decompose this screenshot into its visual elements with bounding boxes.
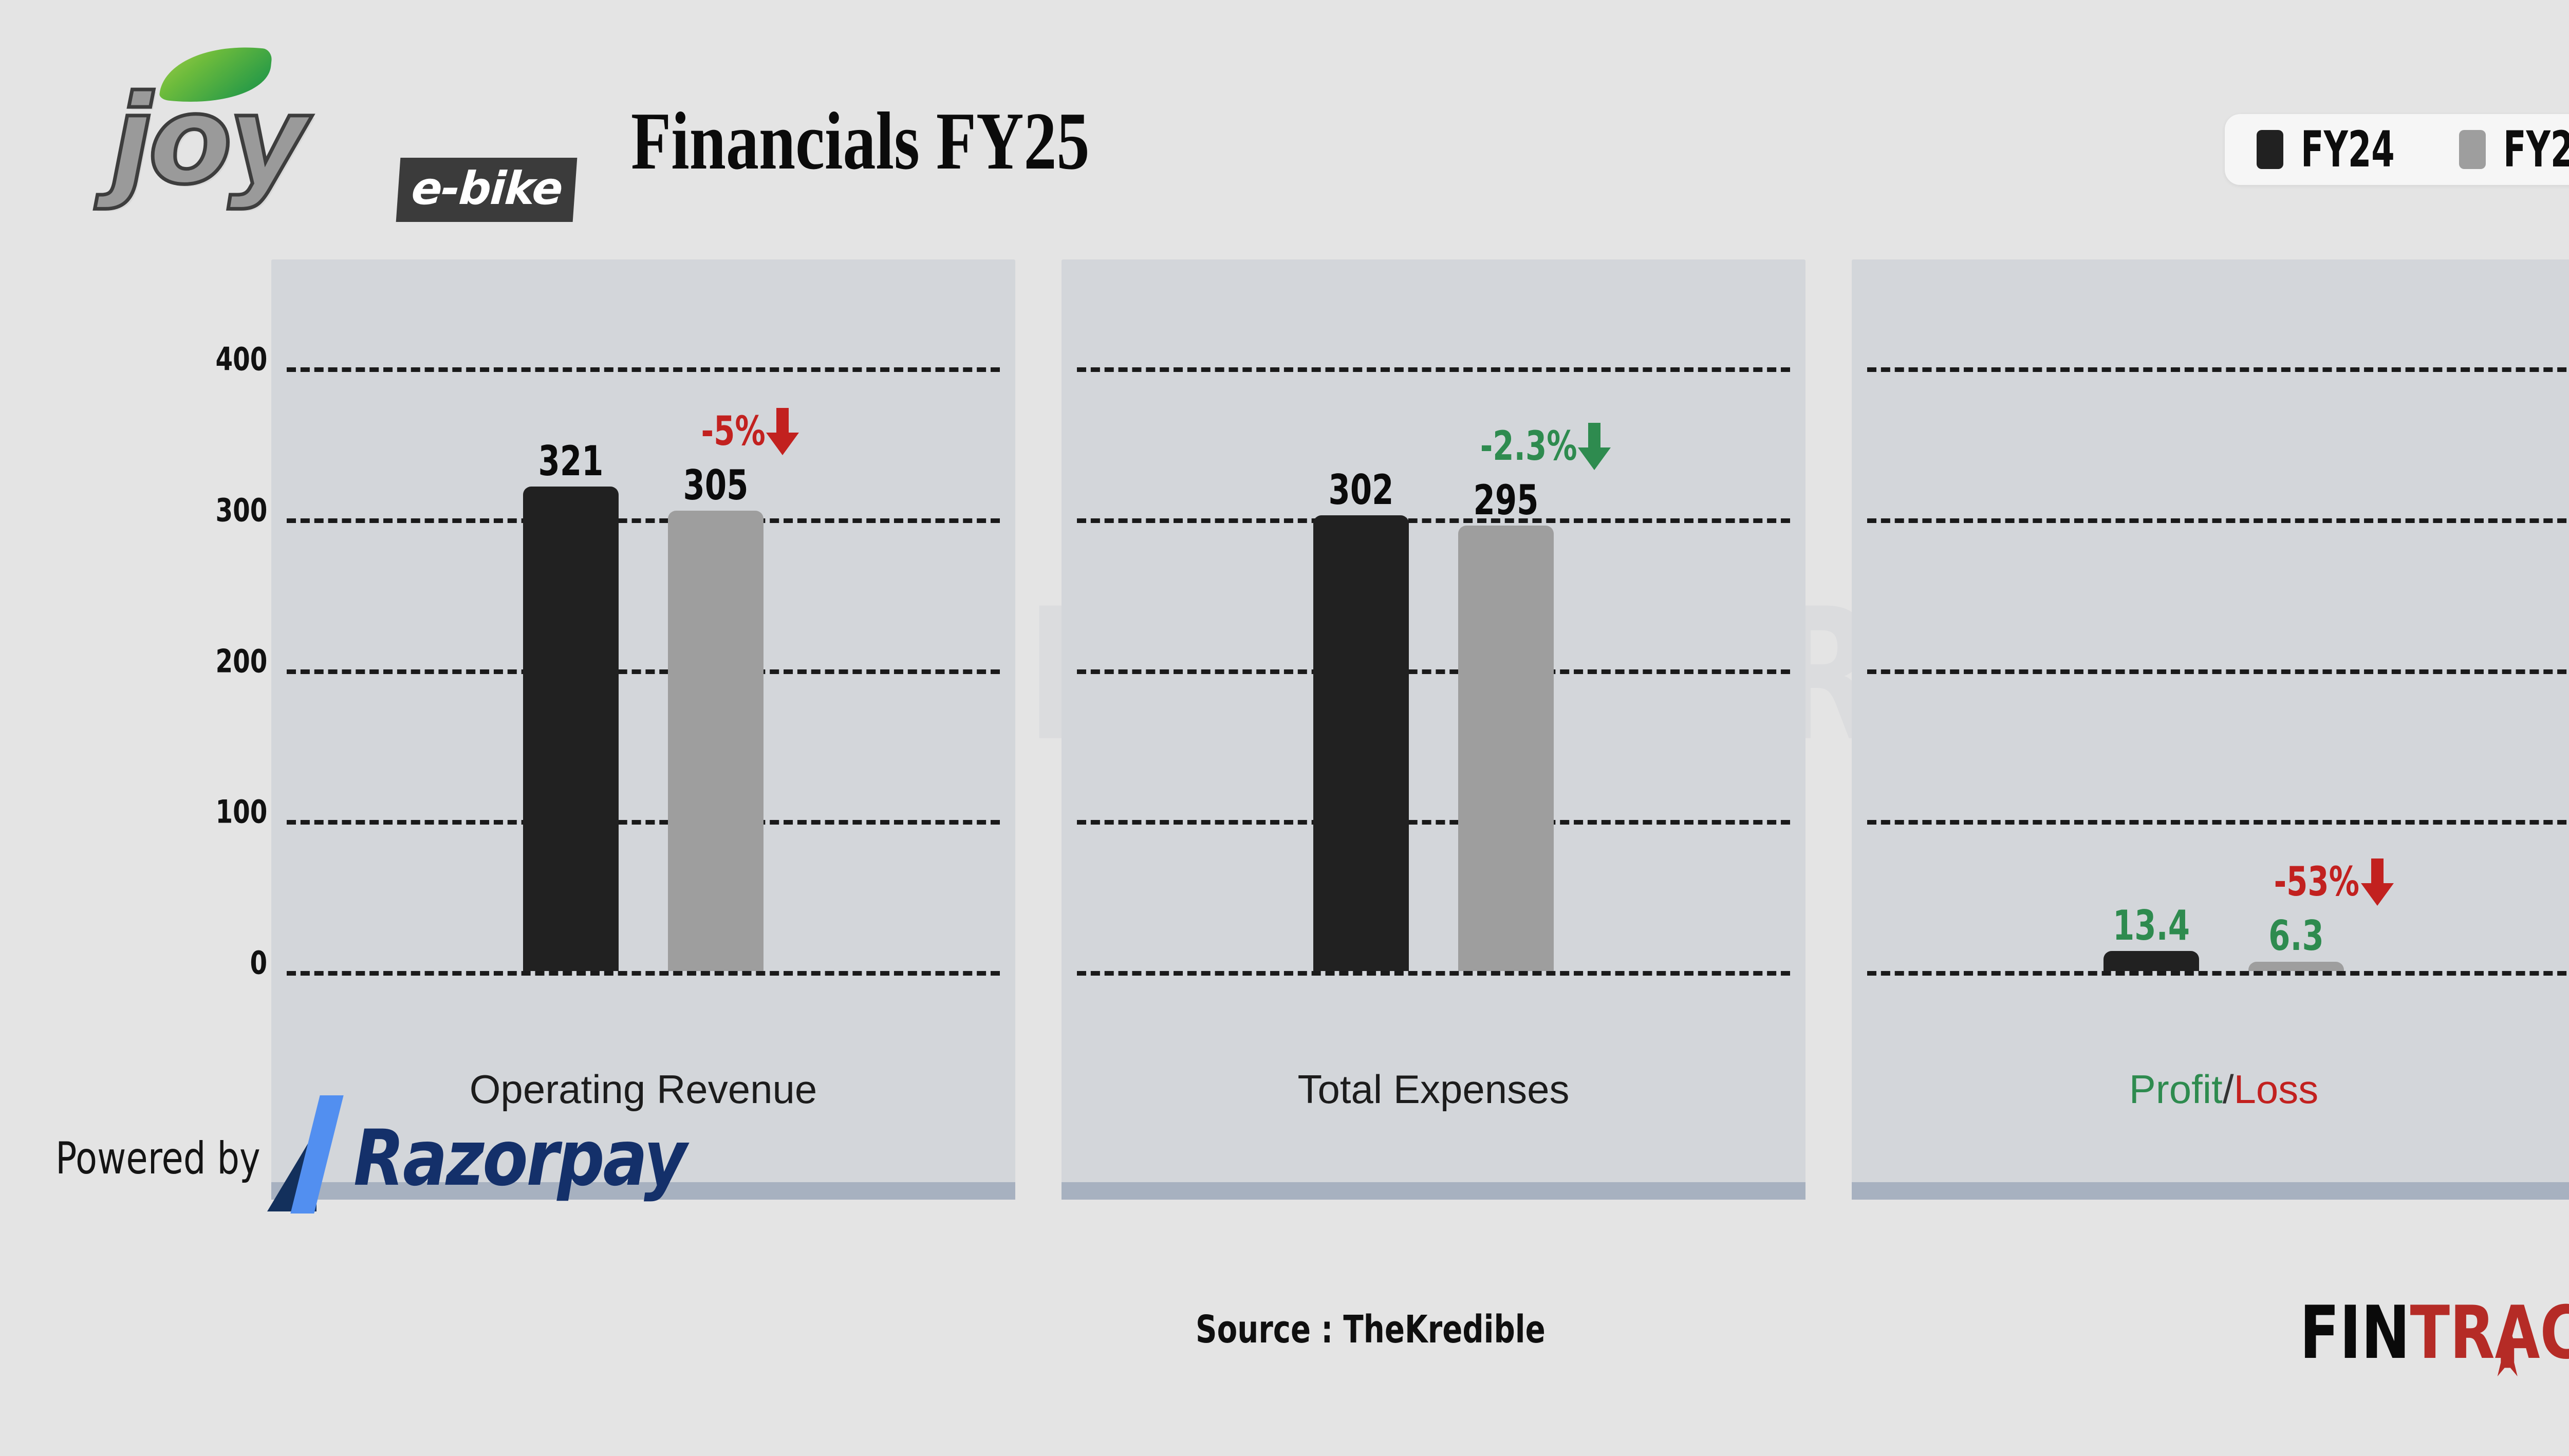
panel-accent-bar-2	[1062, 1182, 1805, 1200]
infographic-canvas: joy e-bike Financials FY25 FY24 FY25 FIN…	[0, 0, 2569, 1456]
bar-fy25-3[interactable]	[2248, 962, 2344, 972]
gridline-100	[1867, 820, 2569, 825]
gridline-300	[287, 518, 1000, 523]
y-axis-tick-0: 0	[250, 944, 267, 982]
razorpay-logo: Razorpay	[267, 1105, 739, 1212]
bar-value-fy24-1: 321	[511, 437, 631, 485]
bar-value-fy25-2: 295	[1446, 476, 1566, 524]
gridline-300	[1077, 518, 1790, 523]
gridline-100	[1077, 820, 1790, 825]
y-axis-tick-200: 200	[215, 642, 267, 680]
delta-badge-2: -2.3%	[1443, 423, 1621, 470]
bar-value-fy25-3: 6.3	[2237, 912, 2356, 960]
delta-badge-3: -53%	[2233, 858, 2411, 906]
fintrackr-fin: FIN	[2299, 1291, 2410, 1375]
ebike-badge: e-bike	[396, 158, 578, 222]
gridline-100	[287, 820, 1000, 825]
arrow-down-icon-2	[1575, 423, 1614, 470]
gridline-400	[1867, 367, 2569, 372]
gridline-0	[1077, 971, 1790, 976]
gridline-400	[1077, 367, 1790, 372]
chart-panel-3: 13.46.3-53%Profit/Loss	[1852, 259, 2569, 1200]
gridline-200	[287, 669, 1000, 674]
legend: FY24 FY25	[2225, 114, 2569, 185]
category-label-2: Total Expenses	[1062, 1066, 1805, 1113]
arrow-down-icon-3	[2358, 858, 2397, 906]
powered-by-razorpay: Powered by Razorpay	[55, 1105, 739, 1212]
bar-fy25-2[interactable]	[1458, 526, 1554, 971]
bar-fy24-1[interactable]	[523, 487, 619, 971]
delta-text-1: -5%	[701, 408, 765, 455]
source-note-text: Source : TheKredible	[1196, 1308, 1546, 1352]
panel-accent-bar-3	[1852, 1182, 2569, 1200]
category-label-3: Profit/Loss	[1852, 1066, 2569, 1113]
y-axis: 4003002001000	[195, 259, 267, 1200]
bar-fy24-3[interactable]	[2103, 951, 2199, 971]
fintrackr-logo: FINTRACKR	[2299, 1291, 2569, 1375]
gridline-400	[287, 367, 1000, 372]
y-axis-tick-400: 400	[215, 341, 267, 378]
powered-by-label: Powered by	[55, 1133, 260, 1184]
delta-text-2: -2.3%	[1480, 423, 1577, 470]
fintrackr-trackr: TRACKR	[2410, 1291, 2569, 1375]
legend-swatch-fy25	[2459, 130, 2486, 169]
legend-item-fy25[interactable]: FY25	[2459, 121, 2569, 178]
bar-fy24-2[interactable]	[1313, 515, 1409, 971]
page-title: Financials FY25	[631, 94, 1090, 189]
fintrackr-trackr-text: TRACKR	[2410, 1291, 2569, 1375]
bar-value-fy24-3: 13.4	[2092, 902, 2211, 949]
joy-ebike-logo: joy e-bike	[110, 44, 619, 198]
category-label-loss: Loss	[2233, 1067, 2318, 1112]
delta-badge-1: -5%	[653, 408, 830, 455]
bar-value-fy25-1: 305	[656, 461, 776, 509]
legend-swatch-fy24	[2257, 130, 2283, 169]
gridline-200	[1077, 669, 1790, 674]
bar-fy25-1[interactable]	[668, 511, 764, 971]
legend-label-fy24: FY24	[2301, 121, 2374, 178]
arrow-down-icon-1	[763, 408, 802, 455]
chart-panel-2: 302295-2.3%Total Expenses	[1062, 259, 1805, 1200]
delta-text-3: -53%	[2274, 859, 2359, 905]
y-axis-tick-100: 100	[215, 793, 267, 831]
chart-panel-1: 321305-5%Operating Revenue	[271, 259, 1015, 1200]
razorpay-mark-icon	[267, 1105, 349, 1212]
y-axis-tick-300: 300	[215, 491, 267, 529]
gridline-200	[1867, 669, 2569, 674]
legend-label-fy25: FY25	[2503, 121, 2569, 178]
chart-area: 4003002001000 321305-5%Operating Revenue…	[0, 259, 2569, 1200]
header: joy e-bike Financials FY25 FY24 FY25	[0, 0, 2569, 259]
razorpay-wordmark: Razorpay	[353, 1114, 685, 1203]
bar-value-fy24-2: 302	[1301, 466, 1421, 514]
source-note: Source : TheKredible	[0, 1308, 2569, 1352]
category-label-slash: /	[2223, 1067, 2234, 1112]
gridline-0	[287, 971, 1000, 976]
category-label-profit: Profit	[2129, 1067, 2223, 1112]
gridline-300	[1867, 518, 2569, 523]
legend-item-fy24[interactable]: FY24	[2257, 121, 2409, 178]
joy-wordmark: joy	[110, 80, 304, 202]
gridline-0	[1867, 971, 2569, 976]
